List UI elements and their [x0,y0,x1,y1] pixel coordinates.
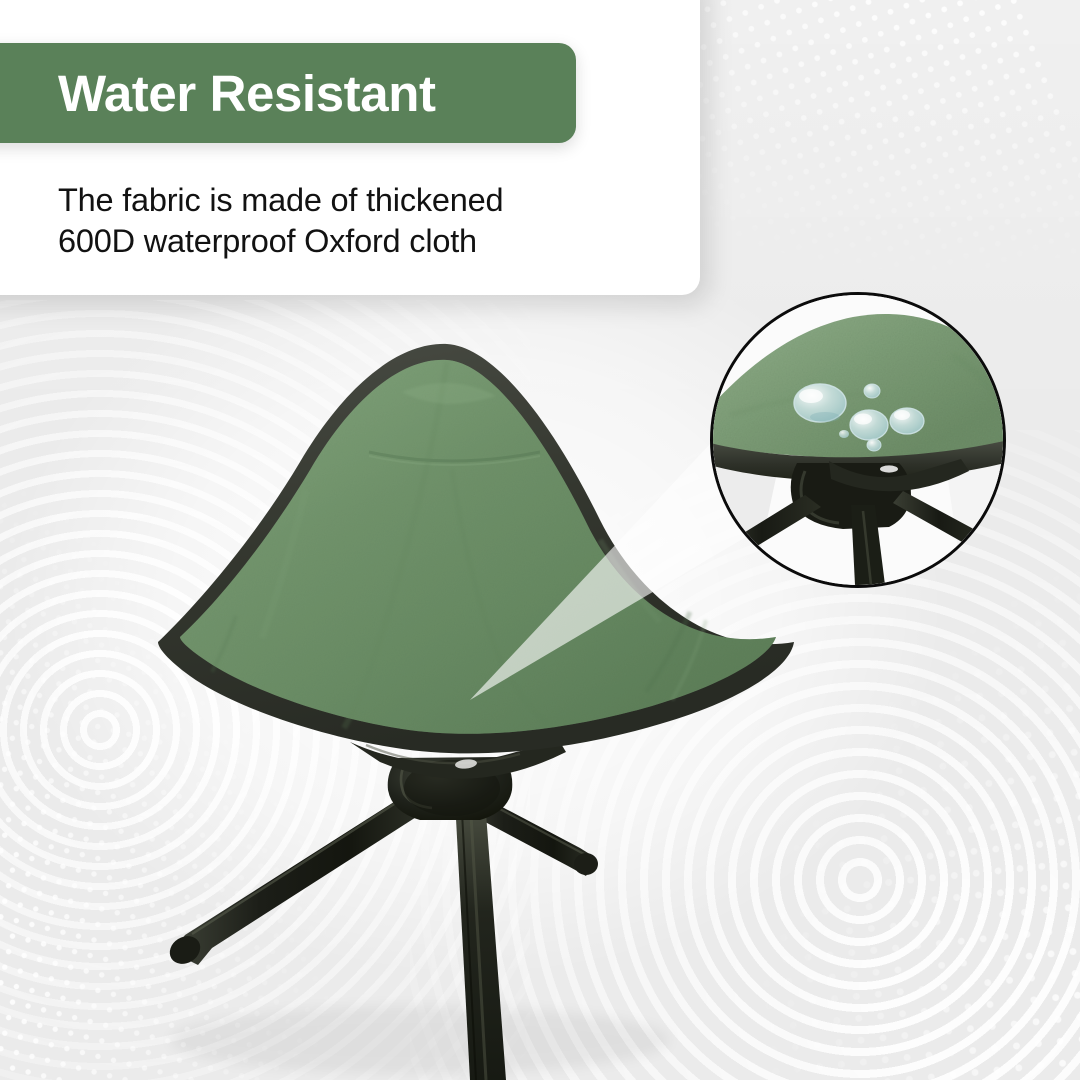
droplet-small-3 [839,430,849,438]
infographic-canvas: Water Resistant The fabric is made of th… [0,0,1080,1080]
title-banner: Water Resistant [0,43,576,143]
detail-zoom-circle [710,292,1006,588]
subtitle-line-1: The fabric is made of thickened [58,180,658,221]
subtitle-block: The fabric is made of thickened 600D wat… [58,180,658,262]
page-title: Water Resistant [58,68,436,119]
subtitle-line-2: 600D waterproof Oxford cloth [58,221,658,262]
